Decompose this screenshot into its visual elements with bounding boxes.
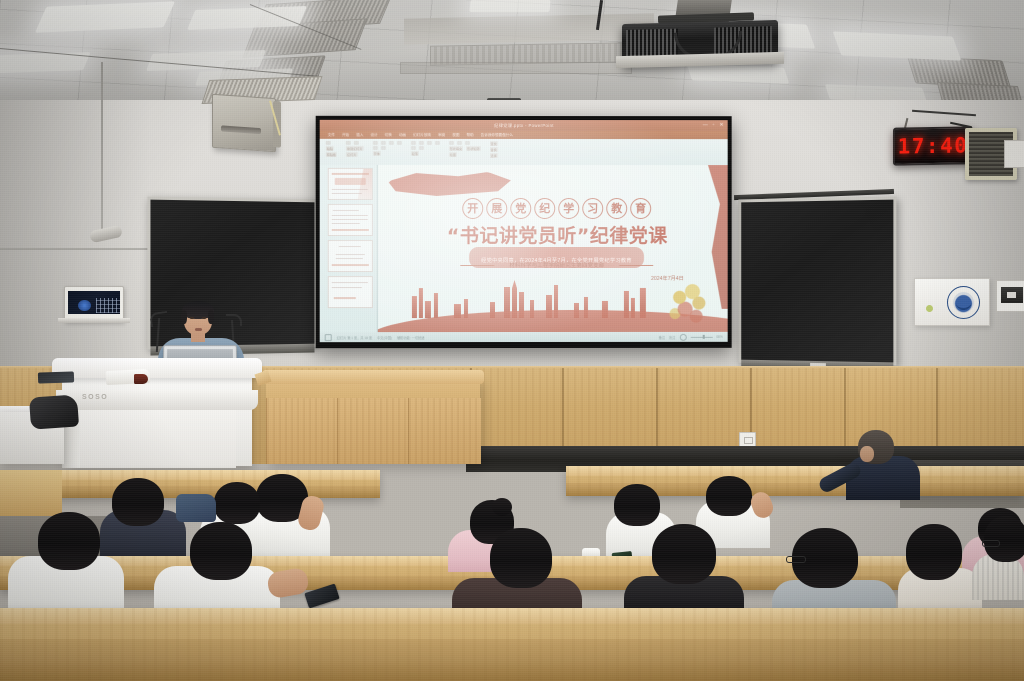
slide-thumbnail-pane[interactable]: 1 2 3	[320, 165, 378, 332]
glasses-icon	[786, 556, 806, 563]
thumb-text-line	[332, 223, 360, 224]
student-head	[112, 478, 164, 526]
eyebrow-char: 展	[486, 198, 507, 219]
university-emblem-icon	[947, 286, 980, 319]
desk-top	[262, 370, 484, 384]
presenter-hair	[181, 310, 187, 324]
maximize-icon[interactable]: ▫	[713, 122, 715, 128]
desk-item-red	[134, 374, 148, 384]
thumb-text-line	[332, 282, 368, 283]
italic-icon[interactable]	[381, 141, 386, 145]
powerpoint-title-bar: 纪律党课.pptx - PowerPoint — ▫ ✕	[320, 120, 728, 131]
wall-seam	[0, 248, 160, 250]
desk-panel	[266, 398, 337, 464]
accessibility-status[interactable]: 辅助功能: 一切就绪	[397, 335, 424, 340]
powerpoint-status-bar[interactable]: 幻灯片 第 1 张，共 18 张 中文(中国) 辅助功能: 一切就绪 备注 批注…	[320, 332, 728, 342]
lectern: SOSO	[62, 366, 252, 466]
tab-animations[interactable]: 动画	[399, 132, 406, 137]
ribbon-label: 绘图	[449, 152, 457, 157]
minimize-icon[interactable]: —	[703, 122, 708, 128]
thumb-title-block	[335, 178, 366, 185]
underline-icon[interactable]	[389, 141, 394, 145]
ribbon-label[interactable]: 替换	[489, 147, 497, 152]
thumb-band	[334, 297, 356, 299]
tab-home[interactable]: 开始	[342, 132, 349, 137]
presenter-mouth	[195, 328, 202, 331]
ribbon-label: 形状填充	[449, 146, 463, 151]
layout-icon[interactable]	[354, 141, 359, 145]
av-control-panel[interactable]	[64, 286, 124, 322]
thumb-text-line	[339, 246, 361, 247]
ribbon-label: 剪贴板	[326, 152, 337, 157]
thumb-band	[332, 229, 369, 231]
tab-view[interactable]: 视图	[452, 132, 459, 137]
black-bag	[29, 394, 79, 429]
tab-file[interactable]: 文件	[328, 132, 335, 137]
thumb-band	[332, 264, 369, 266]
slide-thumbnail[interactable]: 2	[328, 204, 373, 236]
comments-button[interactable]: 批注	[669, 334, 675, 339]
align-left-icon[interactable]	[427, 141, 432, 145]
ribbon-group-slides[interactable]: 新建幻灯片 幻灯片	[346, 141, 364, 157]
ribbon-label: 段落	[411, 151, 419, 156]
normal-view-icon[interactable]	[325, 334, 332, 341]
bench-front	[0, 639, 1024, 681]
student-head	[490, 528, 552, 588]
ribbon-group-font[interactable]: 字体	[373, 141, 402, 156]
powerpoint-ribbon[interactable]: 粘贴 剪贴板 新建幻灯片 幻灯片 字体 段落	[320, 139, 728, 165]
powerpoint-window[interactable]: 纪律党课.pptx - PowerPoint — ▫ ✕ 文件 开始 插入 设计…	[320, 120, 728, 342]
university-emblem-sign	[914, 278, 990, 326]
microphone-icon	[226, 314, 242, 326]
powerpoint-ribbon-tabs[interactable]: 文件 开始 插入 设计 切换 动画 幻灯片放映 审阅 视图 帮助 告诉我你想要做…	[320, 131, 728, 139]
student-head	[614, 484, 660, 526]
wall-shadow	[0, 100, 150, 380]
presenter-hair	[208, 310, 214, 324]
paste-icon[interactable]	[326, 141, 331, 145]
sign-sticker	[926, 305, 933, 312]
slide-flower-graphic	[666, 282, 712, 326]
tell-me-box[interactable]: 告诉我你想要做什么	[481, 132, 513, 137]
slide-headline: “书记讲党员听”纪律党课	[447, 221, 668, 248]
language-status[interactable]: 中文(中国)	[377, 335, 392, 340]
rule-left	[460, 265, 494, 266]
slide-canvas[interactable]: 开 展 党 纪 学 习 教 育 “书记讲党员听”纪律党课 经党中央同意，在202…	[378, 165, 728, 332]
desk-panel	[408, 398, 481, 464]
eyebrow-char: 学	[558, 198, 579, 219]
sign-graphic	[1001, 287, 1023, 303]
dots-left: ···	[498, 263, 505, 268]
close-icon[interactable]: ✕	[719, 122, 723, 128]
student-head	[706, 476, 752, 516]
slide-thumbnail[interactable]: 3	[328, 240, 373, 272]
zoom-level: 66%	[716, 335, 722, 339]
slide-eyebrow-row: 开 展 党 纪 学 习 教 育	[462, 198, 651, 219]
control-panel-buttons-icon	[96, 298, 120, 313]
ceiling-shading	[0, 0, 1024, 112]
control-panel-screen	[68, 291, 120, 314]
emblem-swoosh	[955, 298, 972, 311]
eyebrow-char: 开	[462, 198, 483, 219]
lecture-hall-photo: 纪律党课.pptx - PowerPoint — ▫ ✕ 文件 开始 插入 设计…	[0, 0, 1024, 681]
blue-bag	[176, 494, 216, 522]
student-head	[984, 516, 1024, 562]
pull-cord[interactable]	[101, 62, 103, 234]
thumb-text-line	[332, 189, 368, 190]
tab-design[interactable]: 设计	[370, 132, 377, 137]
ribbon-label: 形状轮廓	[466, 146, 480, 151]
line-spacing-icon[interactable]	[411, 146, 416, 150]
clock-time: 17:40	[898, 135, 969, 157]
new-slide-icon[interactable]	[346, 141, 351, 145]
thumb-text-line	[332, 219, 368, 220]
rule-right	[619, 264, 653, 265]
student-head	[214, 482, 260, 524]
slide-count-status: 幻灯片 第 1 张，共 18 张	[337, 335, 372, 340]
powerpoint-title-text: 纪律党课.pptx - PowerPoint	[494, 122, 554, 128]
tab-insert[interactable]: 插入	[356, 132, 363, 137]
wall-sign-right	[996, 280, 1024, 312]
teacher-desk	[266, 378, 480, 464]
speaker-slot	[221, 125, 261, 134]
tab-review[interactable]: 审阅	[438, 132, 445, 137]
eyebrow-char: 育	[630, 198, 651, 219]
emblem-center	[953, 292, 974, 313]
slide-thumbnail[interactable]: 4	[328, 276, 373, 308]
thumb-text-line	[332, 215, 368, 216]
numbering-icon[interactable]	[419, 141, 424, 145]
zoom-slider[interactable]	[690, 336, 712, 337]
eyebrow-char: 教	[606, 198, 627, 219]
font-size-icon[interactable]	[373, 146, 378, 150]
bullets-icon[interactable]	[411, 141, 416, 145]
student-neck	[860, 446, 874, 462]
eyebrow-char: 党	[510, 198, 531, 219]
ribbon-label[interactable]: 查找	[489, 141, 497, 146]
ribbon-label: 粘贴	[326, 146, 334, 151]
ribbon-label[interactable]: 选择	[489, 153, 497, 158]
bold-icon[interactable]	[373, 141, 378, 145]
thumb-band	[332, 173, 369, 175]
shapes-icon[interactable]	[449, 141, 454, 145]
font-name-icon[interactable]	[381, 146, 386, 150]
tab-help[interactable]: 帮助	[466, 132, 473, 137]
font-color-icon[interactable]	[397, 141, 402, 145]
quick-styles-icon[interactable]	[465, 141, 470, 145]
slide-thumbnail[interactable]: 1	[328, 168, 373, 200]
notes-button[interactable]: 备注	[659, 334, 665, 339]
ribbon-label: 幻灯片	[346, 152, 357, 157]
student-head	[190, 522, 252, 580]
presenter-eye	[202, 317, 206, 319]
blackboard-right	[738, 196, 896, 365]
bench-row	[0, 608, 1024, 681]
dots-right: ···	[608, 262, 615, 267]
window-controls[interactable]: — ▫ ✕	[703, 122, 724, 128]
thumb-text-line	[332, 287, 362, 288]
wall-speaker-icon	[212, 94, 276, 152]
digital-clock: 17:40	[893, 126, 973, 165]
presenter-eye	[190, 317, 194, 319]
columns-icon[interactable]	[419, 146, 424, 150]
ribbon-group-paragraph[interactable]: 段落	[411, 141, 440, 156]
tab-transitions[interactable]: 切换	[385, 132, 392, 137]
lectern-brand-label: SOSO	[82, 394, 108, 401]
slide-org-text: 材料科学与工程学院研究生第四党支部	[509, 261, 604, 269]
student-head	[652, 524, 716, 584]
desk-panel	[337, 398, 408, 464]
side-bench	[0, 470, 62, 516]
glasses-icon	[982, 540, 1000, 547]
lectern-body	[78, 410, 236, 468]
wall-panel	[1004, 140, 1024, 168]
eyebrow-char: 习	[582, 198, 603, 219]
student-head	[38, 512, 100, 570]
projection-screen: 纪律党课.pptx - PowerPoint — ▫ ✕ 文件 开始 插入 设计…	[316, 116, 732, 348]
eyebrow-char: 纪	[534, 198, 555, 219]
thumb-text-line	[336, 258, 363, 259]
ribbon-group-drawing[interactable]: 形状填充形状轮廓 绘图	[449, 141, 481, 157]
align-center-icon[interactable]	[435, 141, 440, 145]
ribbon-group-editing[interactable]: 查找 替换 选择	[489, 141, 497, 158]
ribbon-label: 新建幻灯片	[346, 146, 364, 151]
thumb-text-line	[336, 254, 365, 255]
student-hair-bun	[492, 498, 512, 516]
ribbon-label: 字体	[373, 151, 381, 156]
thumb-text-line	[332, 193, 362, 194]
desk-item-dark	[38, 371, 74, 383]
reading-view-icon[interactable]	[679, 333, 686, 340]
lectern-top	[52, 358, 262, 378]
slide-decor-blob	[388, 171, 516, 197]
student-head	[906, 524, 962, 580]
tab-slideshow[interactable]: 幻灯片放映	[413, 132, 431, 137]
thumb-text-line	[333, 210, 359, 211]
arrange-icon[interactable]	[457, 141, 462, 145]
wall-outlet-icon	[739, 432, 756, 447]
control-panel-logo-icon	[78, 300, 91, 311]
slide-org-line: ··· 材料科学与工程学院研究生第四党支部 ···	[460, 261, 653, 269]
ceiling	[0, 0, 1024, 112]
ribbon-group-clipboard[interactable]: 粘贴 剪贴板	[326, 141, 337, 157]
control-panel-shelf	[58, 318, 130, 323]
